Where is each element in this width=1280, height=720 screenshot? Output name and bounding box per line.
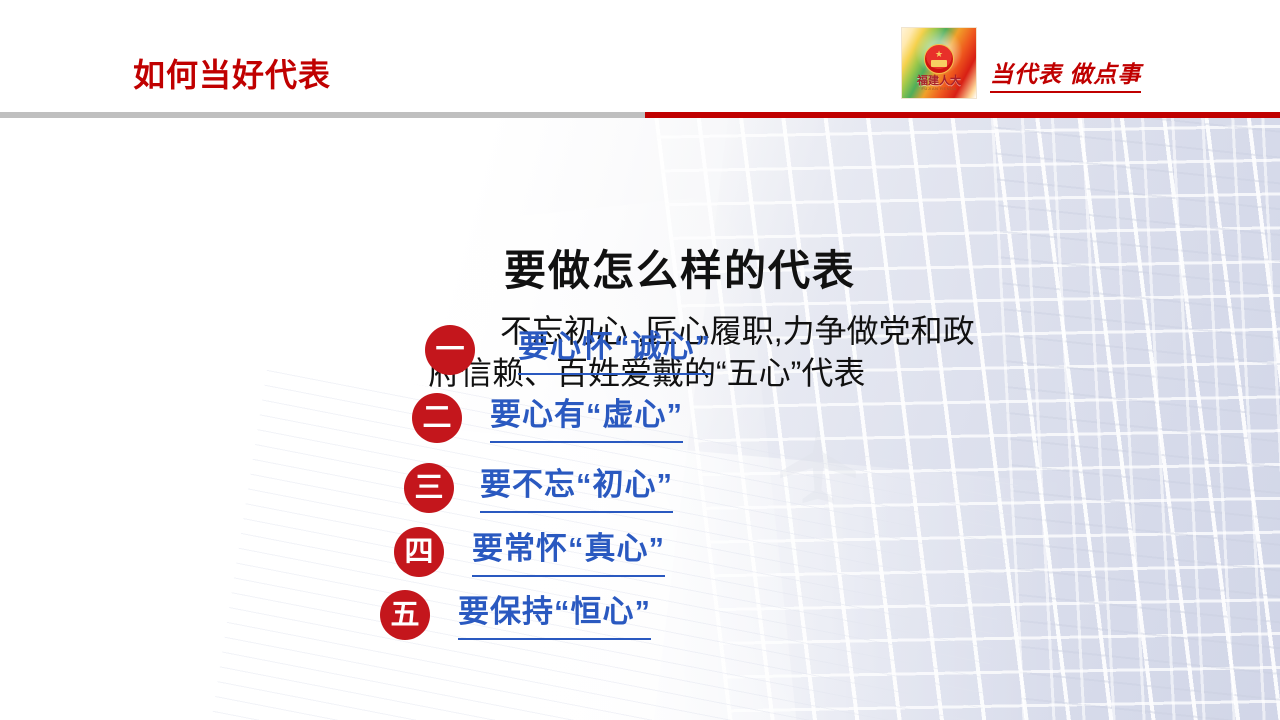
emblem-star-icon: ★ xyxy=(935,50,943,59)
list-item-number-badge: 五 xyxy=(380,590,430,640)
slide-content: 要做怎么样的代表 不忘初心 ,匠心履职,力争做党和政府信赖、百姓爱戴的“五心”代… xyxy=(0,118,1280,720)
slide-header: 如何当好代表 ★ 福建人大 FUJIAN RENDA 当代表 做点事 xyxy=(0,0,1280,118)
national-emblem-icon: ★ xyxy=(924,44,954,74)
list-item-number-badge: 一 xyxy=(425,325,475,375)
content-headline: 要做怎么样的代表 xyxy=(380,246,980,298)
list-item-number-badge: 三 xyxy=(404,463,454,513)
page-title: 如何当好代表 xyxy=(133,50,331,96)
list-item-label[interactable]: 要常怀“真心” xyxy=(472,529,665,577)
list-item-label[interactable]: 要不忘“初心” xyxy=(480,465,673,513)
list-item-label[interactable]: 要保持“恒心” xyxy=(458,592,651,640)
list-item-number-badge: 四 xyxy=(394,527,444,577)
list-item-label[interactable]: 要心怀“诚心” xyxy=(518,327,711,375)
content-subtitle: 不忘初心 ,匠心履职,力争做党和政府信赖、百姓爱戴的“五心”代表 xyxy=(428,310,994,394)
list-item-label[interactable]: 要心有“虚心” xyxy=(490,395,683,443)
fujian-peoples-congress-logo: ★ 福建人大 FUJIAN RENDA xyxy=(901,27,977,99)
list-item-number-badge: 二 xyxy=(412,393,462,443)
slide-root: 如何当好代表 ★ 福建人大 FUJIAN RENDA 当代表 做点事 要做怎么样… xyxy=(0,0,1280,720)
header-slogan: 当代表 做点事 xyxy=(990,55,1141,93)
logo-subtext: FUJIAN RENDA xyxy=(902,86,976,91)
